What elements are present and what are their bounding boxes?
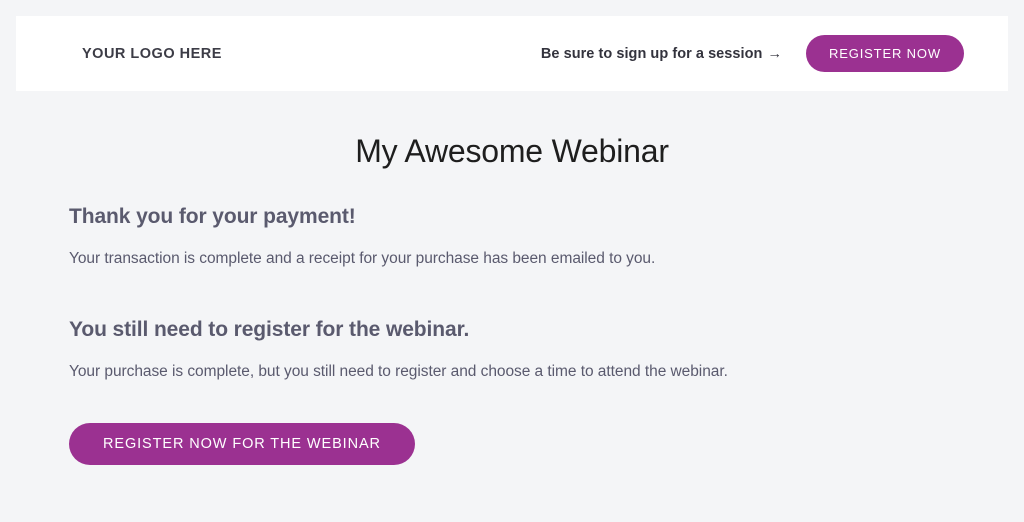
site-header: YOUR LOGO HERE Be sure to sign up for a … <box>16 16 1008 91</box>
payment-confirmation-text: Your transaction is complete and a recei… <box>69 250 955 268</box>
logo[interactable]: YOUR LOGO HERE <box>82 46 222 62</box>
header-tagline: Be sure to sign up for a session→ <box>541 46 782 62</box>
arrow-right-icon: → <box>767 46 782 62</box>
registration-required-heading: You still need to register for the webin… <box>69 318 955 342</box>
content-body: Thank you for your payment! Your transac… <box>0 205 1024 465</box>
header-register-now-button[interactable]: REGISTER NOW <box>806 35 964 72</box>
registration-required-text: Your purchase is complete, but you still… <box>69 363 955 381</box>
page-root: YOUR LOGO HERE Be sure to sign up for a … <box>0 0 1024 522</box>
page-title: My Awesome Webinar <box>0 91 1024 170</box>
payment-confirmation-section: Thank you for your payment! Your transac… <box>69 205 955 268</box>
header-actions: Be sure to sign up for a session→ REGIST… <box>541 35 964 72</box>
payment-confirmation-heading: Thank you for your payment! <box>69 205 955 229</box>
main-content: My Awesome Webinar Thank you for your pa… <box>0 91 1024 522</box>
registration-required-section: You still need to register for the webin… <box>69 318 955 381</box>
header-tagline-text: Be sure to sign up for a session <box>541 46 763 62</box>
register-for-webinar-button[interactable]: REGISTER NOW FOR THE WEBINAR <box>69 423 415 465</box>
